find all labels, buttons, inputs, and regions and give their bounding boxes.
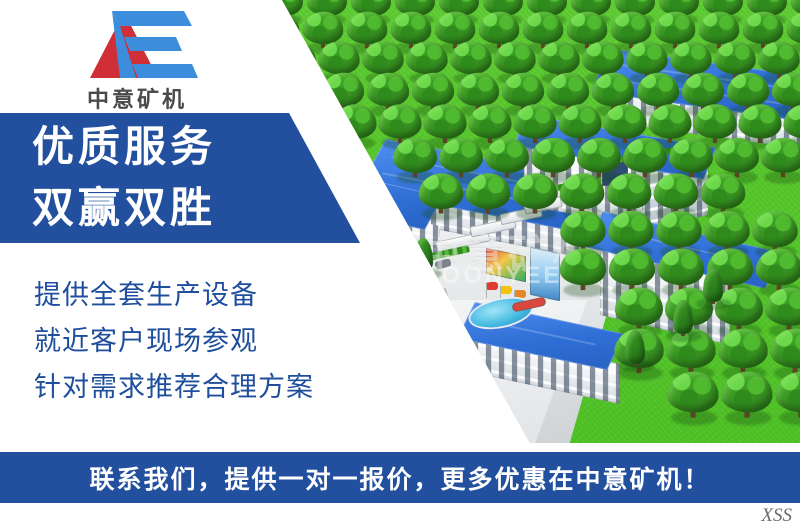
headline-line-1: 优质服务 (32, 116, 332, 177)
tree-crown (431, 292, 451, 326)
headline: 优质服务 双赢双胜 (32, 116, 332, 238)
tree-crown (466, 173, 511, 209)
tree-crown (654, 173, 699, 209)
tree-crown (611, 12, 652, 45)
tree-crown (435, 12, 476, 45)
tree-crown (423, 104, 466, 139)
tree (271, 41, 319, 89)
tree-trunk (421, 262, 425, 274)
tree-crown (607, 173, 652, 209)
car-dark (415, 264, 432, 276)
tree-crown (721, 372, 772, 413)
tree-crown (603, 104, 646, 139)
tree-crown (560, 173, 605, 209)
tree-crown (682, 73, 724, 107)
tree-crown (718, 328, 768, 368)
tree-crown (758, 41, 800, 74)
tree-crown (367, 73, 409, 107)
tree-crown (608, 211, 654, 247)
tree-shadow (779, 410, 800, 425)
tree-crown (322, 73, 364, 107)
contact-banner[interactable]: 联系我们，提供一对一报价，更多优惠在中意矿机！ (0, 452, 800, 503)
tree-crown (419, 173, 464, 209)
tree-crown (625, 330, 645, 364)
tree-trunk (281, 8, 285, 20)
tree-crown (362, 41, 404, 74)
benefit-item-2: 就近客户现场参观 (34, 318, 414, 364)
tree-crown (787, 12, 800, 45)
tree-crown (693, 104, 736, 139)
tree-trunk (293, 66, 297, 78)
tree-crown (615, 287, 663, 325)
tree-crown (669, 138, 713, 173)
tree-crown (412, 73, 454, 107)
tree-shadow (337, 137, 376, 150)
tree-crown (756, 248, 800, 285)
benefit-list: 提供全套生产设备 就近客户现场参观 针对需求推荐合理方案 (34, 272, 414, 410)
tree-crown (259, 12, 300, 45)
conifer-tree (612, 330, 658, 376)
tree-crown (667, 372, 718, 413)
tree-shadow (262, 42, 299, 54)
tree-crown (752, 211, 798, 247)
tree-crown (761, 138, 800, 173)
tree-crown (450, 41, 492, 74)
conifer-tree (690, 268, 736, 314)
tree (772, 372, 800, 431)
tree (256, 12, 303, 59)
tree-crown (502, 73, 544, 107)
tree (718, 372, 777, 431)
tree (509, 173, 561, 225)
tree-shadow (424, 322, 460, 334)
tree-crown (567, 12, 608, 45)
tree-crown (703, 268, 723, 302)
tree-crown (513, 104, 556, 139)
tree-trunk (277, 36, 281, 48)
tree-crown (592, 73, 634, 107)
contact-banner-text: 联系我们，提供一对一报价，更多优惠在中意矿机！ (89, 460, 710, 496)
tree-crown (538, 41, 580, 74)
benefit-item-1: 提供全套生产设备 (34, 272, 414, 318)
tree-crown (714, 41, 756, 74)
tree-crown (783, 104, 800, 139)
tree-crown (485, 138, 529, 173)
tree-crown (770, 328, 800, 368)
tree-crown (457, 73, 499, 107)
tree-crown (393, 138, 437, 173)
tree-crown (648, 104, 691, 139)
tree-crown (623, 138, 667, 173)
tree-crown (531, 138, 575, 173)
tree-crown (609, 248, 655, 285)
tree-crown (743, 12, 784, 45)
tree-crown (303, 12, 344, 45)
tree-crown (513, 173, 558, 209)
tree-crown (699, 12, 740, 45)
tree (462, 173, 514, 225)
tree-crown (626, 41, 668, 74)
tree-crown (468, 104, 511, 139)
tree (415, 173, 467, 225)
tree-crown (333, 104, 376, 139)
tree-crown (318, 41, 360, 74)
tree-crown (765, 287, 800, 325)
tree-crown (494, 41, 536, 74)
tree-crown (378, 104, 421, 139)
tree-crown (560, 248, 606, 285)
tree-crown (439, 138, 483, 173)
tree-crown (637, 73, 679, 107)
promo-poster: 中意矿机 ZOONYEE 优质服务 双赢双胜 中意矿机 提供全套生产设备 就近客… (0, 0, 800, 530)
benefit-item-3: 针对需求推荐合理方案 (34, 364, 414, 410)
headline-line-2: 双赢双胜 (32, 177, 332, 238)
brand-logo: 中意矿机 (52, 6, 222, 110)
logo-mark-icon (52, 6, 222, 84)
tree (758, 138, 800, 189)
tree-crown (577, 138, 621, 173)
tree-crown (655, 12, 696, 45)
tree (664, 372, 723, 431)
tree-crown (775, 372, 800, 413)
conifer-tree (418, 292, 464, 338)
tree-crown (274, 41, 316, 74)
tree-crown (582, 41, 624, 74)
tree-crown (670, 41, 712, 74)
tree-crown (547, 73, 589, 107)
tree-crown (727, 73, 769, 107)
tree-crown (656, 211, 702, 247)
tree-shadow (277, 72, 314, 84)
tree-crown (406, 41, 448, 74)
tree-crown (391, 12, 432, 45)
tree-crown (715, 138, 759, 173)
tree-crown (558, 104, 601, 139)
tree-crown (738, 104, 781, 139)
tree-crown (704, 211, 750, 247)
corner-watermark: XSS (761, 505, 792, 527)
tree (330, 104, 380, 154)
tree-crown (772, 73, 800, 107)
tree-crown (413, 238, 433, 272)
logo-company-name: 中意矿机 (62, 82, 212, 114)
tree-crown (523, 12, 564, 45)
tree-trunk (439, 316, 443, 328)
tree-crown (479, 12, 520, 45)
tree (556, 248, 609, 301)
tree-crown (701, 173, 746, 209)
tree-crown (560, 211, 606, 247)
tree-crown (347, 12, 388, 45)
flag-orange (515, 290, 526, 298)
